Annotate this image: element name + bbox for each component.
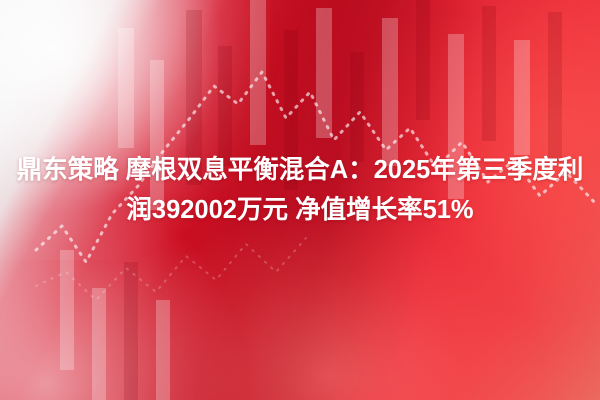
headline-line-1: 鼎东策略 摩根双息平衡混合A：2025年第三季度利 xyxy=(6,150,594,190)
headline: 鼎东策略 摩根双息平衡混合A：2025年第三季度利 润392002万元 净值增长… xyxy=(0,150,600,230)
banner: 鼎东策略 摩根双息平衡混合A：2025年第三季度利 润392002万元 净值增长… xyxy=(0,0,600,400)
headline-line-2: 润392002万元 净值增长率51% xyxy=(6,190,594,230)
